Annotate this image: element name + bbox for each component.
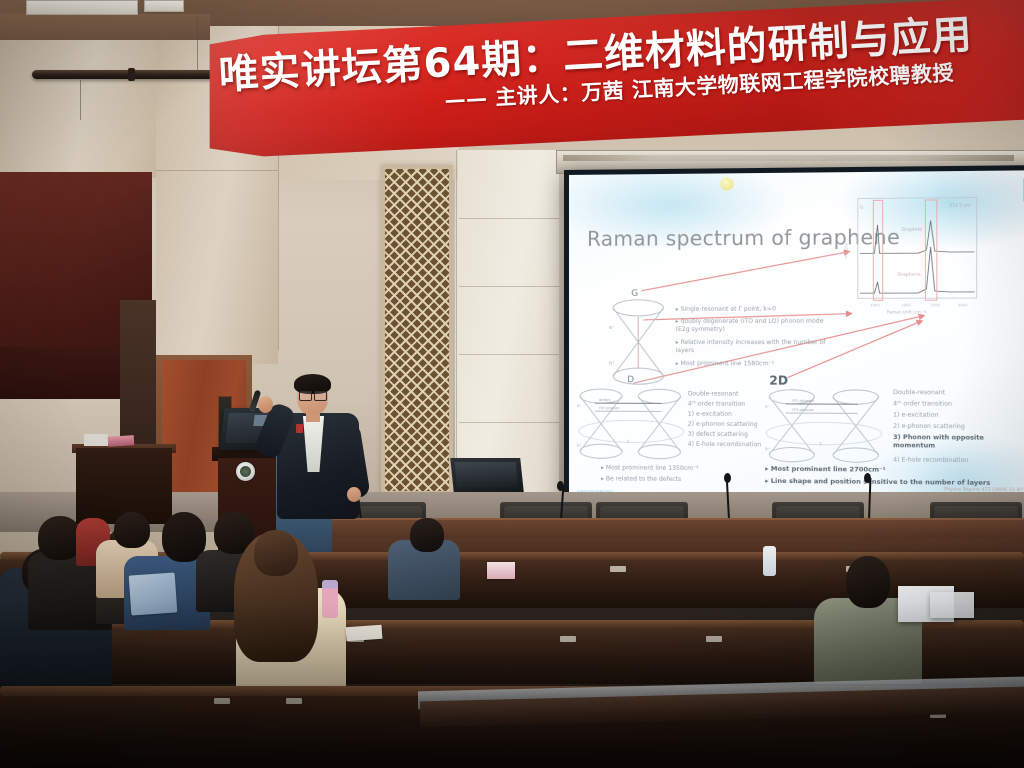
wall-seam-5: [459, 354, 559, 355]
presidium-mic-head-4: [864, 473, 871, 483]
hanging-wire-2: [80, 80, 81, 120]
presentation-slide: Raman spectrum of graphene G: [569, 170, 1024, 501]
speaker-right-hand: [347, 487, 361, 502]
banner-text-group: 唯实讲坛第64期：二维材料的研制与应用 —— 主讲人：万茜 江南大学物联网工程学…: [189, 0, 1024, 158]
speaker-glasses-right-lens: [314, 391, 327, 401]
denim-graphic-print: [129, 572, 178, 615]
seat-plaque-k: [286, 698, 302, 704]
d-block-5: 4) E-hole recombination: [688, 441, 761, 449]
ceiling-soffit: [0, 14, 210, 40]
twod-block-5: 4) E-hole recombination: [893, 456, 968, 464]
speaker-left-hand: [258, 396, 273, 413]
svg-text:defect: defect: [599, 398, 611, 402]
svg-text:e⁻: e⁻: [765, 404, 770, 409]
pink-thermos[interactable]: [322, 580, 338, 618]
svg-text:h⁺: h⁺: [765, 446, 770, 451]
raman-spectrum-chart: 514.5 nm G Graphite Graphene Intensity 1…: [841, 193, 983, 314]
svg-text:514.5 nm: 514.5 nm: [949, 203, 970, 208]
d-block-0: Double-resonant: [688, 390, 739, 398]
g-cone-diagram: e⁻ h⁺: [607, 299, 669, 386]
d-cone-diagram: defect iTO phonon e⁻ h⁺ Γ: [575, 387, 688, 462]
ceiling-lamp-1: [26, 0, 138, 15]
presidium-mic-head-2: [557, 481, 564, 491]
svg-text:Γ: Γ: [627, 439, 630, 444]
d-footer-1: ▸ Be related to the defects: [601, 475, 681, 483]
projection-screen: Raman spectrum of graphene G: [564, 165, 1024, 507]
presidium-mic-head-3: [724, 473, 731, 483]
slide-label-2d: 2D: [769, 373, 788, 387]
person-head: [114, 512, 150, 548]
slide-decor-dot: [720, 177, 733, 190]
podium-crest-icon: [236, 462, 255, 481]
d-block-3: 2) e-phonon scattering: [688, 421, 758, 429]
seat-plaque-j: [214, 698, 230, 704]
svg-text:Intensity: Intensity: [844, 242, 848, 259]
side-laptop[interactable]: [450, 458, 524, 492]
twod-block-1: 4ᵗʰ order transition: [893, 400, 952, 408]
svg-text:Raman shift (cm⁻¹): Raman shift (cm⁻¹): [887, 309, 927, 314]
svg-text:Graphene: Graphene: [897, 272, 921, 278]
wall-panel-right: [455, 150, 559, 500]
seat-plaque-b: [610, 566, 626, 572]
d-block-4: 3) defect scattering: [688, 431, 748, 439]
svg-text:Graphite: Graphite: [901, 227, 922, 233]
svg-text:Γ: Γ: [820, 442, 823, 447]
svg-text:e⁻: e⁻: [577, 403, 582, 408]
person-head: [846, 556, 890, 608]
slide-label-g: G: [631, 289, 638, 299]
wall-seam-4: [459, 286, 559, 287]
svg-text:iTO phonon: iTO phonon: [792, 407, 815, 412]
d-block-2: 1) e-excitation: [688, 411, 732, 419]
lecture-hall-photo: 唯实讲坛第64期：二维材料的研制与应用 —— 主讲人：万茜 江南大学物联网工程学…: [0, 0, 1024, 768]
svg-text:G: G: [860, 205, 863, 210]
d-footer-0: ▸ Most prominent line 1350cm⁻¹: [601, 464, 699, 472]
g-bullet-0: ▸ Single-resonant at Γ point, k≈0: [676, 306, 776, 314]
water-bottle-right[interactable]: [763, 546, 776, 576]
g-bullet-3: ▸ Most prominent line 1580cm⁻¹: [676, 360, 775, 368]
svg-text:iTO phonon: iTO phonon: [792, 398, 815, 403]
seat-plaque-h: [706, 636, 722, 642]
event-banner: 唯实讲坛第64期：二维材料的研制与应用 —— 主讲人：万茜 江南大学物联网工程学…: [193, 0, 1024, 158]
d-block-1: 4ᵗʰ order transition: [688, 400, 745, 408]
person-head: [410, 518, 444, 552]
name-card: [487, 562, 515, 579]
pole-ring-1: [128, 68, 135, 81]
svg-text:h⁺: h⁺: [609, 361, 615, 367]
svg-text:2500: 2500: [931, 303, 941, 307]
wall-seam-6: [459, 422, 559, 423]
white-box-object: [84, 434, 108, 446]
slide-label-d: D: [627, 375, 634, 385]
speaker-glasses-left-lens: [299, 391, 312, 401]
audience-laptop-2[interactable]: [930, 592, 974, 618]
twod-cone-diagram: iTO phonon iTO phonon e⁻ h⁺ Γ: [763, 388, 885, 466]
g-bullet-1: ▸ doubly degenerate (iTO and LO) phonon …: [676, 318, 829, 333]
svg-text:2000: 2000: [901, 303, 911, 307]
twod-block-2: 1) e-excitation: [893, 412, 938, 420]
twod-block-3: 2) e-phonon scattering: [893, 423, 965, 431]
wall-seam-3: [459, 218, 559, 219]
twod-footer-1: ▸ Line shape and position sensitive to t…: [765, 477, 990, 487]
svg-text:h⁺: h⁺: [577, 443, 582, 448]
lattice-panel-frame: [381, 165, 453, 495]
ceiling-lamp-2: [144, 0, 184, 12]
g-bullet-2: ▸ Relative intensity increases with the …: [676, 339, 829, 354]
twod-block-0: Double-resonant: [893, 389, 945, 397]
notebook-page: [346, 625, 383, 641]
person-head: [254, 530, 298, 576]
wall-seam-7: [156, 170, 278, 171]
twod-block-4: 3) Phonon with opposite momentum: [893, 434, 1008, 451]
pink-notebook: [108, 435, 135, 447]
svg-text:e⁻: e⁻: [609, 325, 615, 331]
svg-text:iTO phonon: iTO phonon: [599, 406, 620, 410]
seat-plaque-g: [560, 636, 576, 642]
wall-seam-2: [456, 150, 457, 500]
svg-text:3000: 3000: [958, 303, 968, 307]
raman-spectrum-svg: 514.5 nm G Graphite Graphene Intensity 1…: [841, 193, 983, 314]
svg-text:1500: 1500: [870, 303, 880, 307]
diamond-lattice-icon: [385, 169, 449, 491]
speaker-badge: [296, 424, 303, 433]
wall-panel-left: [0, 18, 156, 178]
